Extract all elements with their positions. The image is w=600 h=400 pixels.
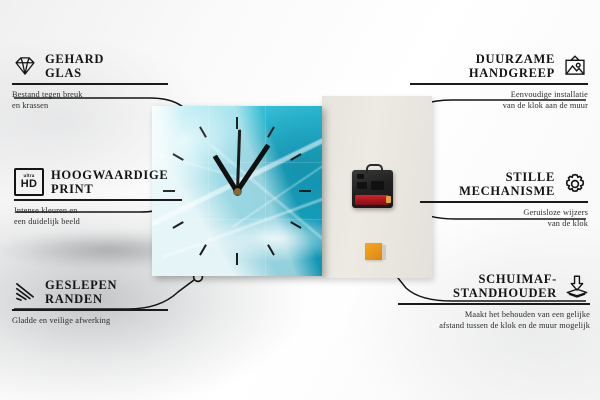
feature-desc-line2: een duidelijk beeld	[14, 216, 182, 227]
feature-divider	[14, 199, 182, 201]
feature-title-line1: STILLE	[459, 170, 555, 184]
feature-title-line1: SCHUIMAF-	[453, 272, 557, 286]
feature-stille-mechanisme: STILLE MECHANISME Geruisloze wijzers van…	[420, 170, 588, 229]
foam-pad-side	[382, 245, 386, 260]
framed-picture-icon	[562, 53, 588, 79]
feature-desc-line1: Bestand tegen breuk	[12, 89, 168, 100]
feature-title-line1: DUURZAME	[469, 52, 555, 66]
mechanism-slot	[371, 181, 384, 190]
feature-gehard-glas: GEHARD GLAS Bestand tegen breuk en krass…	[12, 52, 168, 111]
feature-desc-line1: Gladde en veilige afwerking	[12, 315, 168, 326]
press-pad-icon	[564, 273, 590, 299]
feature-title-line2: GLAS	[45, 66, 104, 80]
feature-desc-line1: Geruisloze wijzers	[420, 207, 588, 218]
feature-desc-line2: afstand tussen de klok en de muur mogeli…	[398, 320, 590, 331]
gear-icon	[562, 171, 588, 197]
feature-title-line2: STANDHOUDER	[453, 286, 557, 300]
infographic-canvas: GEHARD GLAS Bestand tegen breuk en krass…	[0, 0, 600, 400]
feature-title-line2: MECHANISME	[459, 184, 555, 198]
feature-desc-line1: Eenvoudige installatie	[410, 89, 588, 100]
feature-desc-line2: van de klok aan de muur	[410, 100, 588, 111]
feature-schuimafstandhouder: SCHUIMAF- STANDHOUDER Maakt het behouden…	[398, 272, 590, 331]
mechanism-slot	[357, 174, 364, 179]
feature-desc-line2: en krassen	[12, 100, 168, 111]
feature-title-line2: PRINT	[51, 182, 168, 196]
feature-divider	[12, 309, 168, 311]
feature-desc-line1: Intense kleuren en	[14, 205, 182, 216]
feature-divider	[12, 83, 168, 85]
feature-title-line2: RANDEN	[45, 292, 117, 306]
feature-title-line2: HANDGREEP	[469, 66, 555, 80]
battery	[355, 195, 389, 205]
feature-hoogwaardige-print: ultra HD HOOGWAARDIGE PRINT Intense kleu…	[14, 168, 182, 227]
feature-geslepen-randen: GESLEPEN RANDEN Gladde en veilige afwerk…	[12, 278, 168, 326]
feature-title-line1: GESLEPEN	[45, 278, 117, 292]
mechanism-hook-icon	[366, 164, 383, 174]
feature-divider	[420, 201, 588, 203]
feature-desc-line2: van de klok	[420, 218, 588, 229]
feature-duurzame-handgreep: DUURZAME HANDGREEP Eenvoudige installati…	[410, 52, 588, 111]
feature-title-line1: GEHARD	[45, 52, 104, 66]
diamond-icon	[12, 53, 38, 79]
hd-icon-main-label: HD	[21, 179, 38, 190]
feature-desc-line1: Maakt het behouden van een gelijke	[398, 309, 590, 320]
feature-divider	[410, 83, 588, 85]
beveled-edges-icon	[12, 279, 38, 305]
mechanism-slot	[357, 182, 367, 189]
clock-mechanism	[352, 170, 393, 208]
battery-plus-terminal	[386, 196, 391, 203]
feature-title-line1: HOOGWAARDIGE	[51, 168, 168, 182]
foam-spacer-pad	[365, 243, 382, 260]
feature-divider	[398, 303, 590, 305]
ultra-hd-icon: ultra HD	[14, 168, 44, 196]
